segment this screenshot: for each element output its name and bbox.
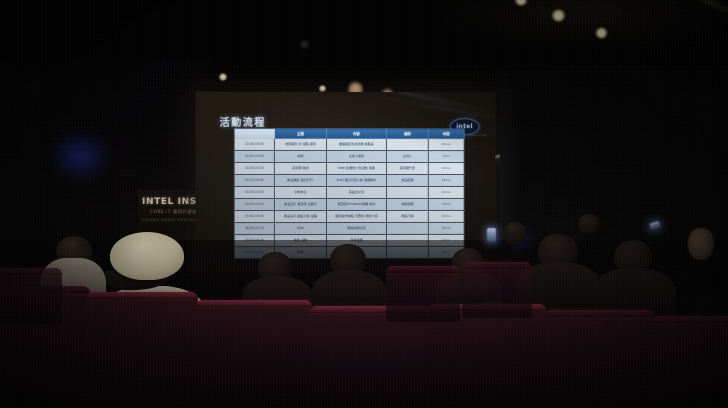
agenda-cell-time: 16:05-16:20 [234, 223, 274, 235]
blue-wall-glow [48, 128, 112, 184]
agenda-row: 14:45-15:05中場休息茶點及交流20min [234, 186, 464, 198]
theater-seat [652, 316, 728, 408]
agenda-row: 14:15-14:45產品講座 第四代PCIntel 第四代核心處 理器解析產品… [234, 174, 464, 186]
agenda-cell-duration: 30min [428, 139, 464, 151]
agenda-cell-speaker [386, 139, 428, 151]
agenda-cell-content: 現場提問交流 [326, 222, 386, 234]
theater-seat [86, 292, 198, 408]
theater-seat [462, 262, 532, 318]
ceiling-spot-light [318, 85, 327, 92]
seat-headrest [462, 262, 532, 269]
ceiling-spot-light [218, 73, 228, 81]
agenda-cell-speaker: 主持人 [386, 151, 428, 163]
agenda-cell-duration: 25min [428, 210, 464, 222]
agenda-cell-topic: 中場休息 [274, 187, 326, 199]
agenda-cell-topic: 英特爾 致詞 [274, 162, 326, 174]
agenda-cell-duration: 30min [428, 175, 464, 187]
agenda-cell-content: Intel 第四代核心處 理器解析 [326, 174, 386, 186]
agenda-row: 14:05-14:15英特爾 致詞Intel 集團簡介及活動 意義英特爾代表10… [234, 162, 464, 174]
agenda-cell-content: 書面確認及試用機 體驗區 [326, 138, 386, 150]
raised-hand [688, 228, 714, 260]
agenda-cell-speaker [386, 186, 428, 198]
theater-seat [0, 268, 62, 324]
seat-headrest [544, 310, 654, 317]
agenda-row: 13:30-14:00來賓報到 及 媒體 接待書面確認及試用機 體驗區30min [234, 138, 464, 150]
agenda-cell-duration: 5min [428, 151, 464, 163]
agenda-cell-time: 13:30-14:00 [234, 138, 274, 150]
agenda-cell-time: 14:15-14:45 [234, 174, 274, 186]
seat-headrest [652, 316, 728, 323]
agenda-row: 15:05-15:40產品演示 輕薄筆 電展示輕薄型Ultrabook實機 操作… [234, 198, 464, 210]
agenda-cell-speaker: 產品經理 [386, 175, 428, 187]
agenda-cell-speaker: 英特爾代表 [386, 163, 428, 175]
theater-photo-scene: INTEL INSIDE CORE i7 第四代處理器 VISIBLY SMAR… [0, 0, 728, 408]
header-topic: 主題 [274, 128, 326, 138]
agenda-row: 15:40-16:05產品演示 觸控平板 電腦觸控操作體驗 及應用 軟體介紹產品… [234, 210, 464, 222]
seat-headrest [0, 268, 62, 275]
theater-seat [386, 266, 460, 322]
tan-baseball-cap [110, 232, 184, 280]
theater-seat [544, 310, 654, 408]
agenda-cell-topic: 開場 [274, 150, 326, 162]
agenda-cell-time: 14:05-14:15 [234, 162, 274, 174]
agenda-cell-speaker: 技術顧問 [386, 198, 428, 210]
ceiling-vent [298, 40, 311, 49]
ceiling-spot-light [550, 9, 567, 22]
agenda-cell-topic: 產品演示 觸控平板 電腦 [274, 211, 326, 223]
audience-head [503, 222, 527, 244]
agenda-cell-speaker [386, 222, 428, 234]
agenda-cell-topic: Q&A [274, 223, 326, 235]
ceiling-spot-light [594, 27, 609, 39]
seat-headrest [196, 300, 312, 307]
header-duration: 時間 [428, 129, 464, 139]
agenda-cell-topic: 來賓報到 及 媒體 接待 [274, 138, 326, 150]
agenda-cell-duration: 15min [428, 222, 464, 234]
agenda-cell-content: 茶點及交流 [326, 186, 386, 198]
agenda-cell-time: 14:00-14:05 [234, 150, 274, 162]
agenda-cell-time: 15:05-15:40 [234, 199, 274, 211]
agenda-cell-duration: 20min [428, 186, 464, 198]
slide-title: 活動流程 [220, 114, 266, 129]
agenda-cell-time: 15:40-16:05 [234, 211, 274, 223]
theater-seat [196, 300, 312, 408]
intel-tagline: Look Inside. [470, 134, 488, 137]
header-time-blank [234, 128, 274, 138]
agenda-row: 16:05-16:20Q&A現場提問交流15min [234, 222, 464, 234]
agenda-table-header-row: 主題 內容 講師 時間 [234, 128, 464, 138]
agenda-row: 14:00-14:05開場主持人開場主持人5min [234, 150, 464, 162]
agenda-cell-content: Intel 集團簡介及活動 意義 [326, 162, 386, 174]
phone-screen-glow [487, 228, 496, 242]
agenda-cell-time: 14:45-15:05 [234, 187, 274, 199]
agenda-cell-content: 主持人開場 [326, 150, 386, 162]
header-content: 內容 [326, 128, 386, 138]
agenda-cell-duration: 35min [428, 198, 464, 210]
header-speaker: 講師 [386, 129, 428, 139]
seat-headrest [86, 292, 198, 299]
agenda-cell-topic: 產品講座 第四代PC [274, 174, 326, 186]
agenda-cell-speaker: 產品行銷 [386, 210, 428, 222]
audience-head [578, 214, 600, 234]
agenda-cell-duration: 10min [428, 163, 464, 175]
agenda-cell-topic: 產品演示 輕薄筆 電展示 [274, 199, 326, 211]
agenda-cell-content: 觸控操作體驗 及應用 軟體介紹 [326, 210, 386, 222]
seat-headrest [386, 266, 460, 273]
agenda-cell-content: 輕薄型Ultrabook實機 操作 [326, 198, 386, 210]
